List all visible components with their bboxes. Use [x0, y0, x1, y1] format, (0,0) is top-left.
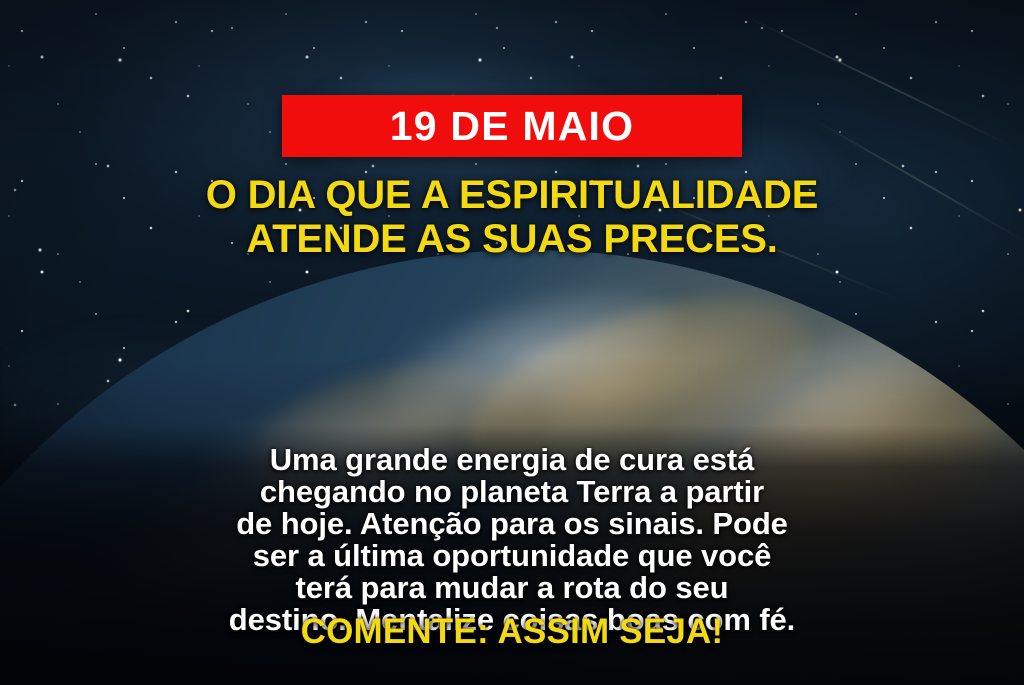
call-to-action-text: COMENTE: ASSIM SEJA!	[0, 614, 1024, 649]
date-banner: 19 DE MAIO	[282, 95, 742, 157]
social-media-poster: 19 DE MAIO O DIA QUE A ESPIRITUALIDADE A…	[0, 0, 1024, 685]
headline-line-1: O DIA QUE A ESPIRITUALIDADE	[62, 173, 962, 217]
body-line-1: Uma grande energia de cura está	[0, 444, 1024, 476]
headline-line-2: ATENDE AS SUAS PRECES.	[62, 217, 962, 261]
poster-content: 19 DE MAIO O DIA QUE A ESPIRITUALIDADE A…	[0, 0, 1024, 685]
body-line-4: ser a última oportunidade que você	[0, 540, 1024, 572]
body-line-5: terá para mudar a rota do seu	[0, 572, 1024, 604]
headline: O DIA QUE A ESPIRITUALIDADE ATENDE AS SU…	[62, 173, 962, 261]
body-copy: Uma grande energia de cura está chegando…	[0, 444, 1024, 636]
body-line-3: de hoje. Atenção para os sinais. Pode	[0, 508, 1024, 540]
body-line-2: chegando no planeta Terra a partir	[0, 476, 1024, 508]
date-banner-text: 19 DE MAIO	[390, 106, 634, 147]
